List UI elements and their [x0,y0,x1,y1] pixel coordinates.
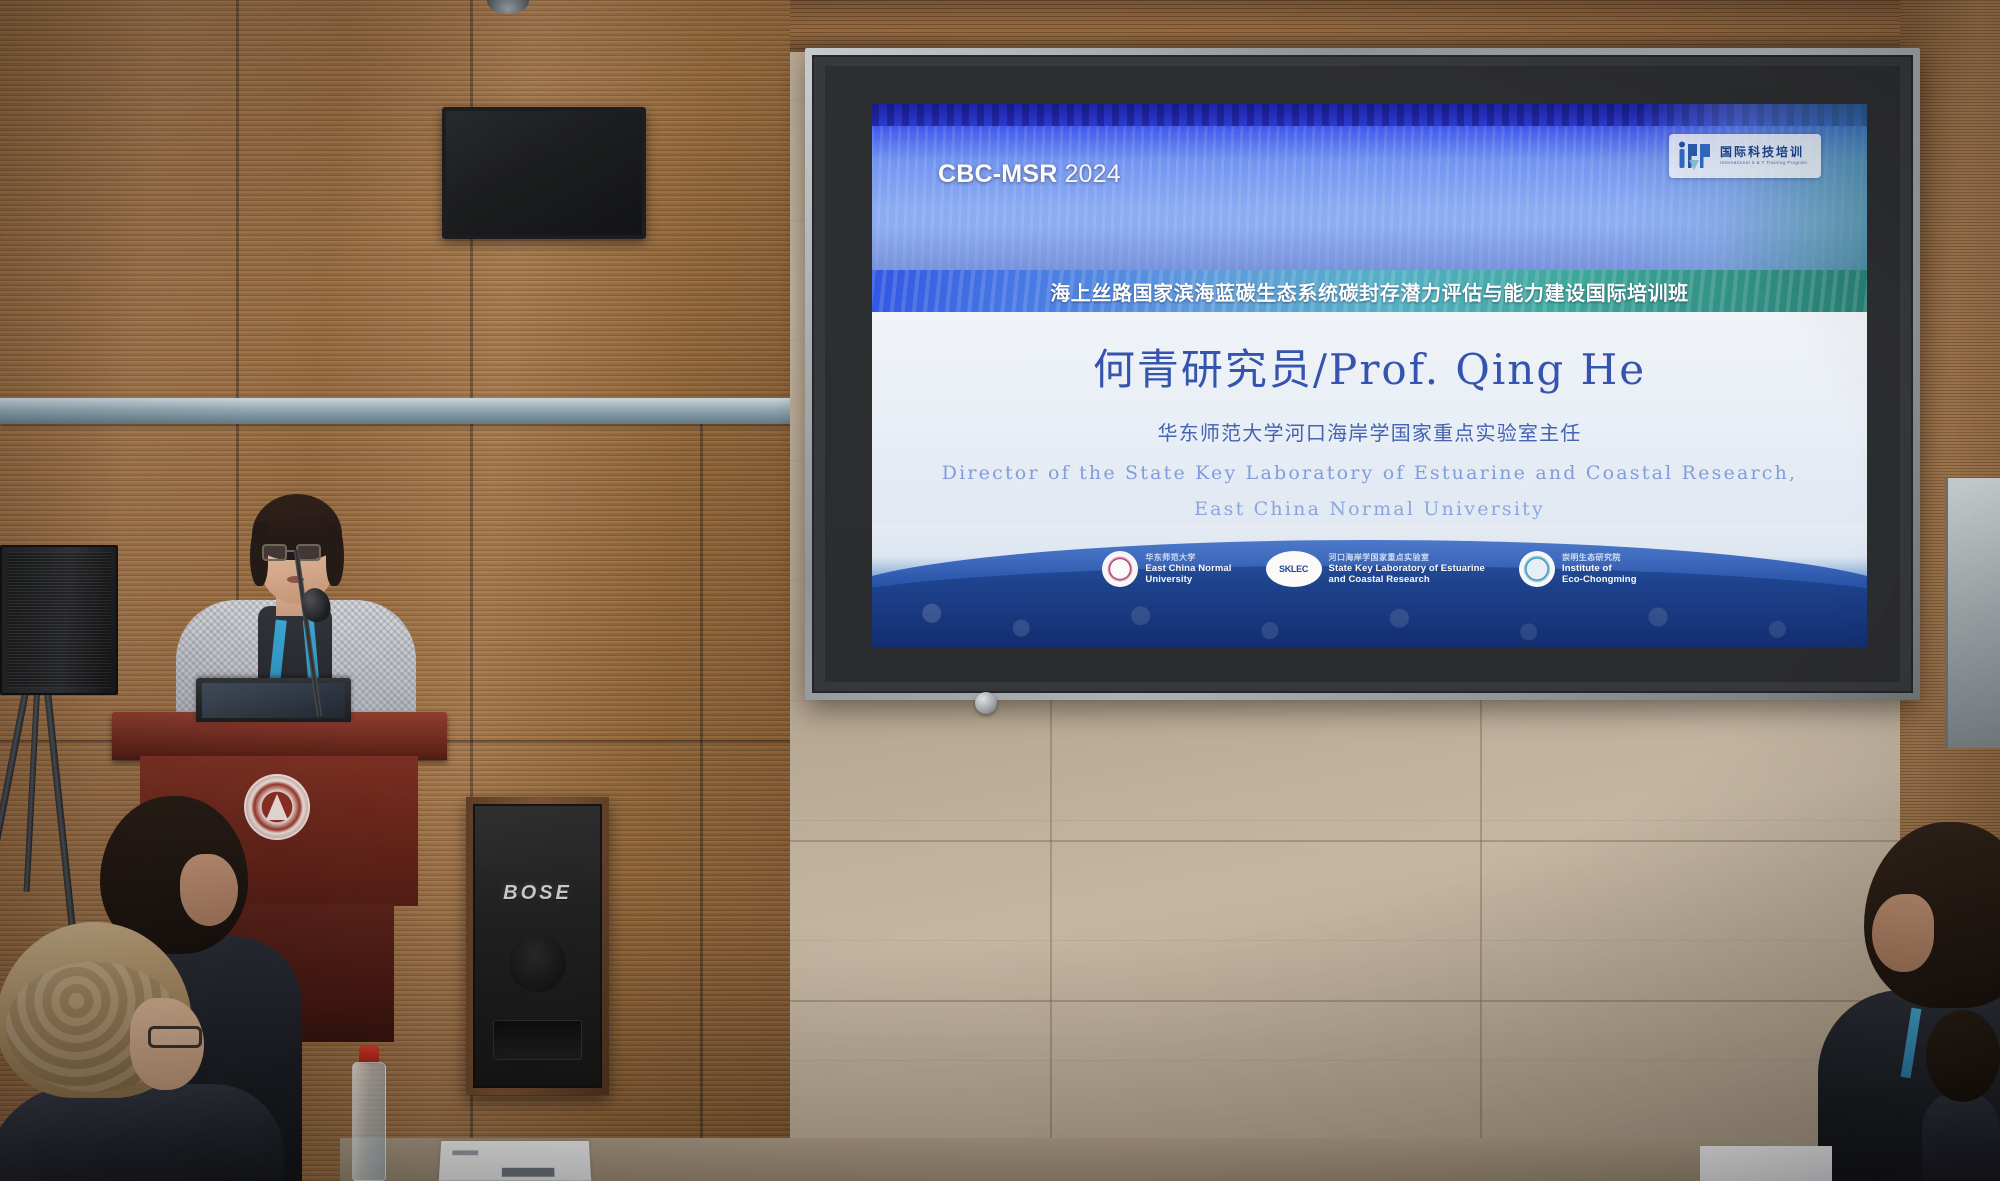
footer-logo-ecnu-cn: 华东师范大学 [1145,553,1231,562]
footer-logo-sklec-en2: and Coastal Research [1329,574,1485,585]
wall-monitor[interactable] [442,107,646,239]
wall-monitor-screen [446,111,642,235]
stone-seam [1480,700,1482,1181]
footer-logo-sklec-en1: State Key Laboratory of Estuarine [1329,563,1485,574]
slide-footer: 华东师范大学 East China Normal University SKLE… [872,524,1867,648]
itp-mark-icon [1675,140,1715,172]
slide-title-year: 2024 [1064,160,1120,188]
slide-title-main: CBC-MSR [938,160,1057,188]
display-mount-knob[interactable] [975,692,997,714]
pa-speaker [0,545,118,695]
slide-banner-title: 海上丝路国家滨海蓝碳生态系统碳封存潜力评估与能力建设国际培训班 [1050,277,1689,306]
slide-header: CBC-MSR2024 国际科技培训 International S & T T… [872,104,1867,270]
slide-body: 何青研究员/Prof. Qing He 华东师范大学河口海岸学国家重点实验室主任… [872,312,1867,524]
pa-speaker-grille [7,552,111,688]
bottle-body [352,1062,386,1181]
footer-logo-eco-en2: Eco-Chongming [1562,574,1637,585]
audience-body [1922,1090,2000,1181]
slide-title: CBC-MSR2024 [938,160,1121,189]
stone-seam [790,1000,1920,1002]
itp-logo-text: 国际科技培训 International S & T Training Prog… [1720,146,1807,166]
audience-face [1872,894,1934,972]
footer-logo-eco-chongming: 崇明生态研究院 Institute of Eco-Chongming [1519,551,1637,587]
footer-logo-ecnu-text: 华东师范大学 East China Normal University [1145,553,1231,585]
name-placard-left [439,1141,592,1181]
presentation-slide: CBC-MSR2024 国际科技培训 International S & T T… [872,104,1867,648]
presenter-glasses-left [262,544,287,561]
footer-logo-sklec-cn: 河口海岸学国家重点实验室 [1329,553,1485,562]
placard-name-text [502,1168,555,1177]
itp-logo-en: International S & T Training Program [1720,161,1807,166]
tower-speaker-face: BOSE [473,804,602,1088]
slide-speaker-name: 何青研究员/Prof. Qing He [1093,336,1646,397]
footer-logo-eco-en1: Institute of [1562,563,1637,574]
wall-light-strip [0,398,820,424]
audience-head [1926,1010,2000,1102]
audience-member-front-left [0,922,284,1181]
audience-glasses [148,1026,202,1048]
footer-logo-ecnu-en1: East China Normal [1145,563,1231,574]
itp-logo-cn: 国际科技培训 [1720,146,1807,158]
slide-affiliation-en-line1: Director of the State Key Laboratory of … [942,462,1798,484]
name-placard-right [1700,1146,1832,1181]
wall-seam [700,424,703,1181]
stone-seam [790,840,1920,842]
footer-logo-eco-text: 崇明生态研究院 Institute of Eco-Chongming [1562,553,1637,585]
bose-brand-label: BOSE [475,882,600,905]
conference-hall-scene: CBC-MSR2024 国际科技培训 International S & T T… [0,0,2000,1181]
eco-chongming-seal-icon [1519,551,1555,587]
footer-logo-ecnu-en2: University [1145,574,1231,585]
sklec-abbr: SKLEC [1279,564,1308,574]
audience-face [180,854,238,926]
itp-logo: 国际科技培训 International S & T Training Prog… [1669,134,1821,178]
audience-member-far-right [1922,1010,2000,1181]
stone-seam [1050,700,1052,1181]
slide-affiliation-cn: 华东师范大学河口海岸学国家重点实验室主任 [1158,417,1582,446]
audience-body [0,1084,284,1181]
presenter-laptop[interactable] [196,678,351,722]
wall-seam [236,0,239,398]
tower-speaker-port [493,1020,582,1060]
ceiling-beam [790,0,1920,52]
presenter-laptop-screen [202,683,345,718]
placard-logo-mark [452,1150,478,1155]
footer-logo-row: 华东师范大学 East China Normal University SKLE… [872,540,1867,598]
water-bottle [352,1046,386,1181]
slide-banner: 海上丝路国家滨海蓝碳生态系统碳封存潜力评估与能力建设国际培训班 [872,270,1867,312]
footer-logo-sklec: SKLEC 河口海岸学国家重点实验室 State Key Laboratory … [1266,551,1485,587]
footer-logo-sklec-text: 河口海岸学国家重点实验室 State Key Laboratory of Est… [1329,553,1485,585]
footer-logo-ecnu: 华东师范大学 East China Normal University [1102,551,1231,587]
tower-speaker: BOSE [466,797,609,1095]
ecnu-seal-icon [1102,551,1138,587]
sklec-seal-icon: SKLEC [1266,551,1322,587]
right-wall-panel [1945,478,2000,748]
footer-logo-eco-cn: 崇明生态研究院 [1562,553,1637,562]
slide-affiliation-en-line2: East China Normal University [1194,498,1545,520]
tower-speaker-driver [509,934,566,992]
